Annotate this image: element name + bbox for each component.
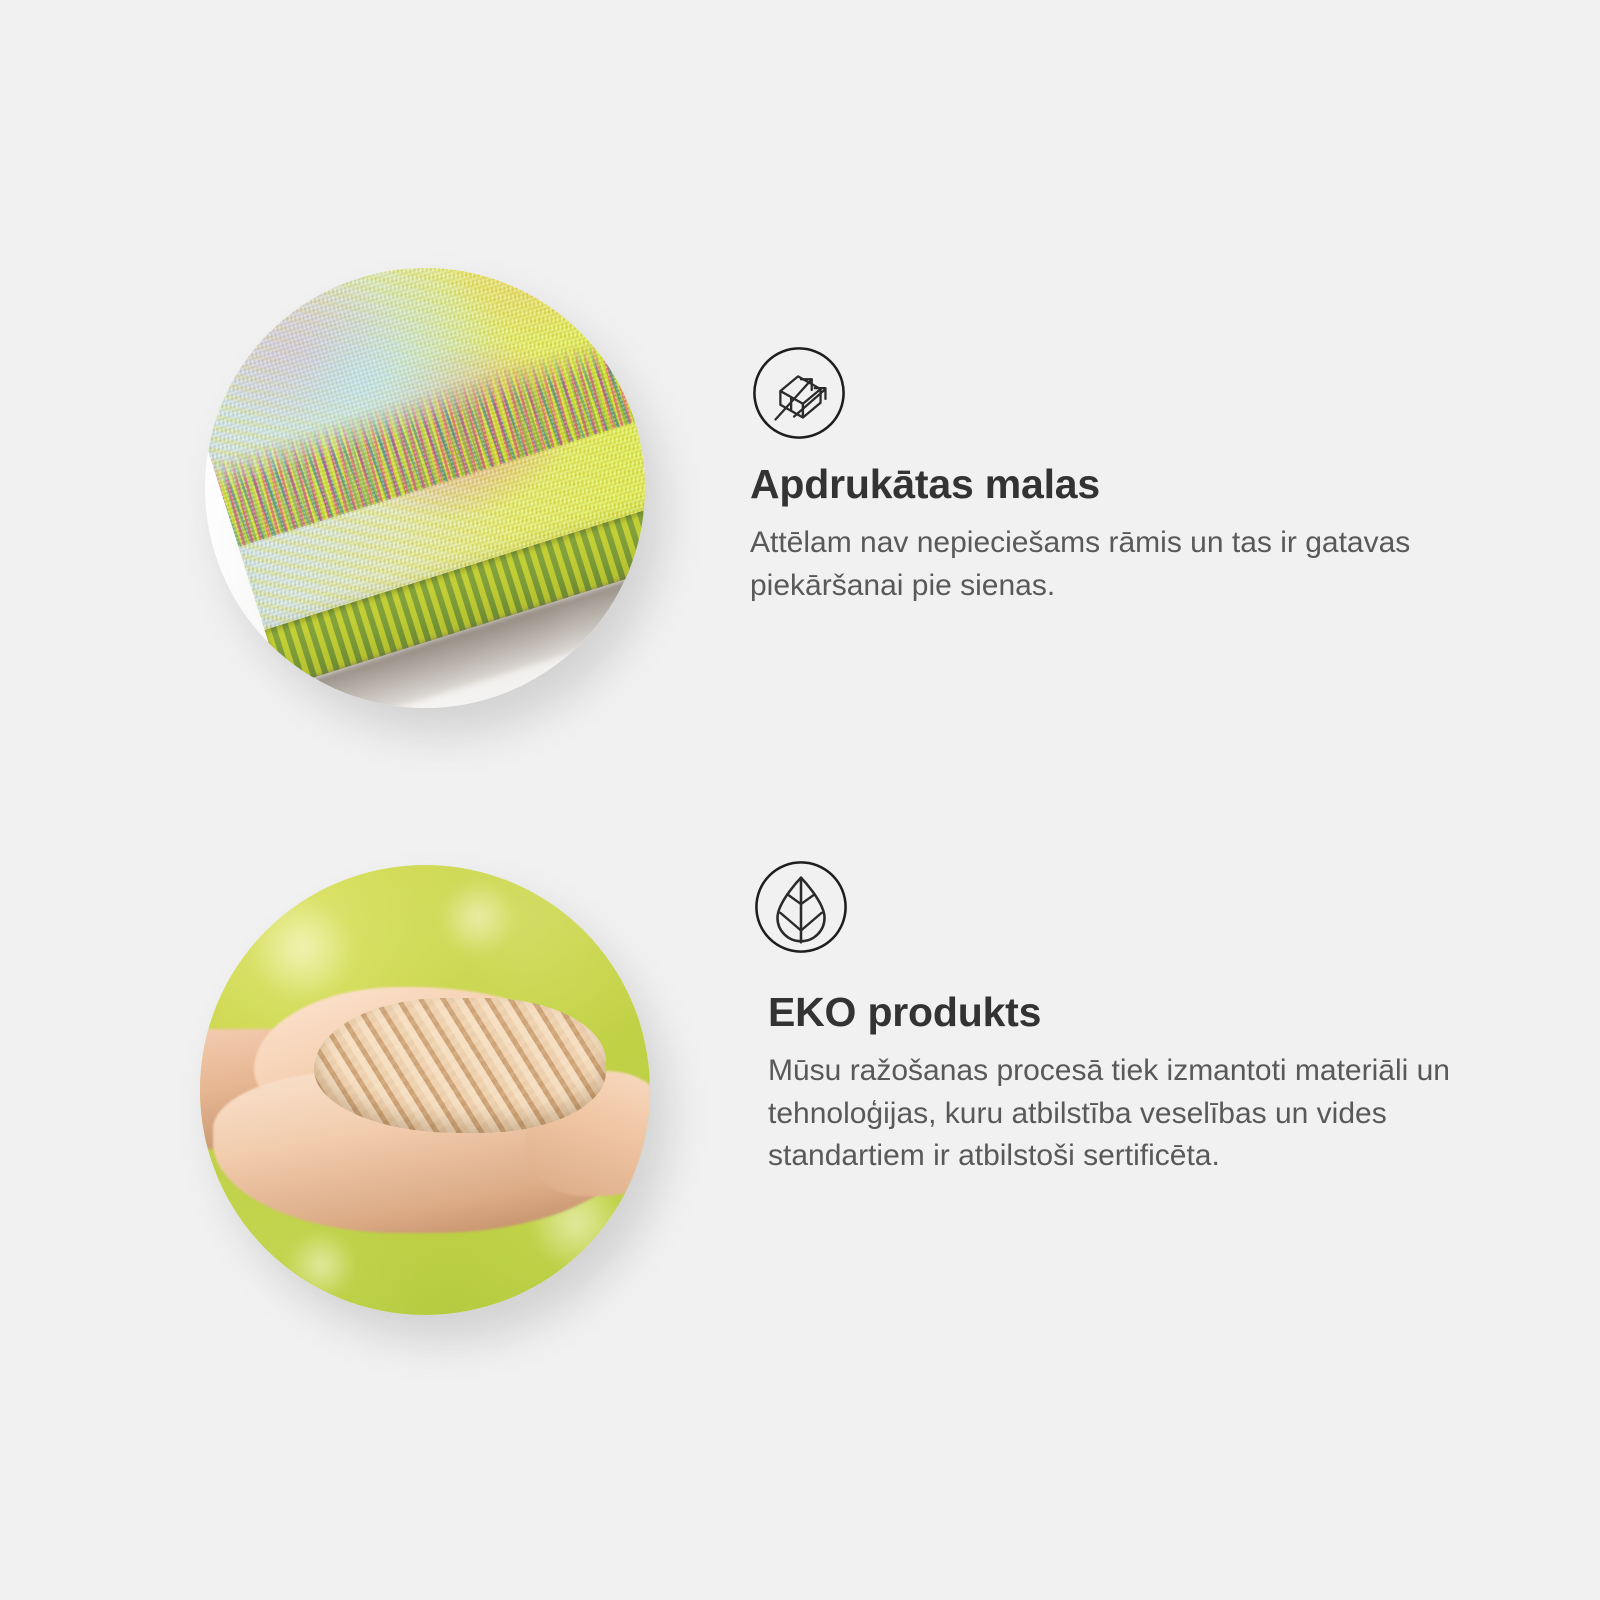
printed-edges-icon xyxy=(750,344,848,442)
feature-title-printed-edges: Apdrukātas malas xyxy=(750,462,1490,508)
canvas-print-corner xyxy=(205,268,645,708)
feature-title-eco: EKO produkts xyxy=(768,990,1508,1036)
leaf-icon xyxy=(752,858,850,956)
bokeh-highlight xyxy=(443,883,513,953)
bokeh-highlight xyxy=(290,1234,352,1296)
feature-highlights-page: Apdrukātas malas Attēlam nav nepieciešam… xyxy=(0,0,1600,1600)
feature-description-printed-edges: Attēlam nav nepieciešams rāmis un tas ir… xyxy=(750,522,1450,607)
feature-text-printed-edges: Apdrukātas malas Attēlam nav nepieciešam… xyxy=(750,462,1490,607)
wood-chips xyxy=(314,998,606,1134)
feature-description-eco: Mūsu ražošanas procesā tiek izmantoti ma… xyxy=(768,1050,1488,1178)
canvas-corner-photo xyxy=(205,268,645,708)
feature-text-eco: EKO produkts Mūsu ražošanas procesā tiek… xyxy=(768,990,1508,1178)
wood-chips-photo xyxy=(200,865,650,1315)
hands-holding-wood-chips xyxy=(200,982,650,1243)
